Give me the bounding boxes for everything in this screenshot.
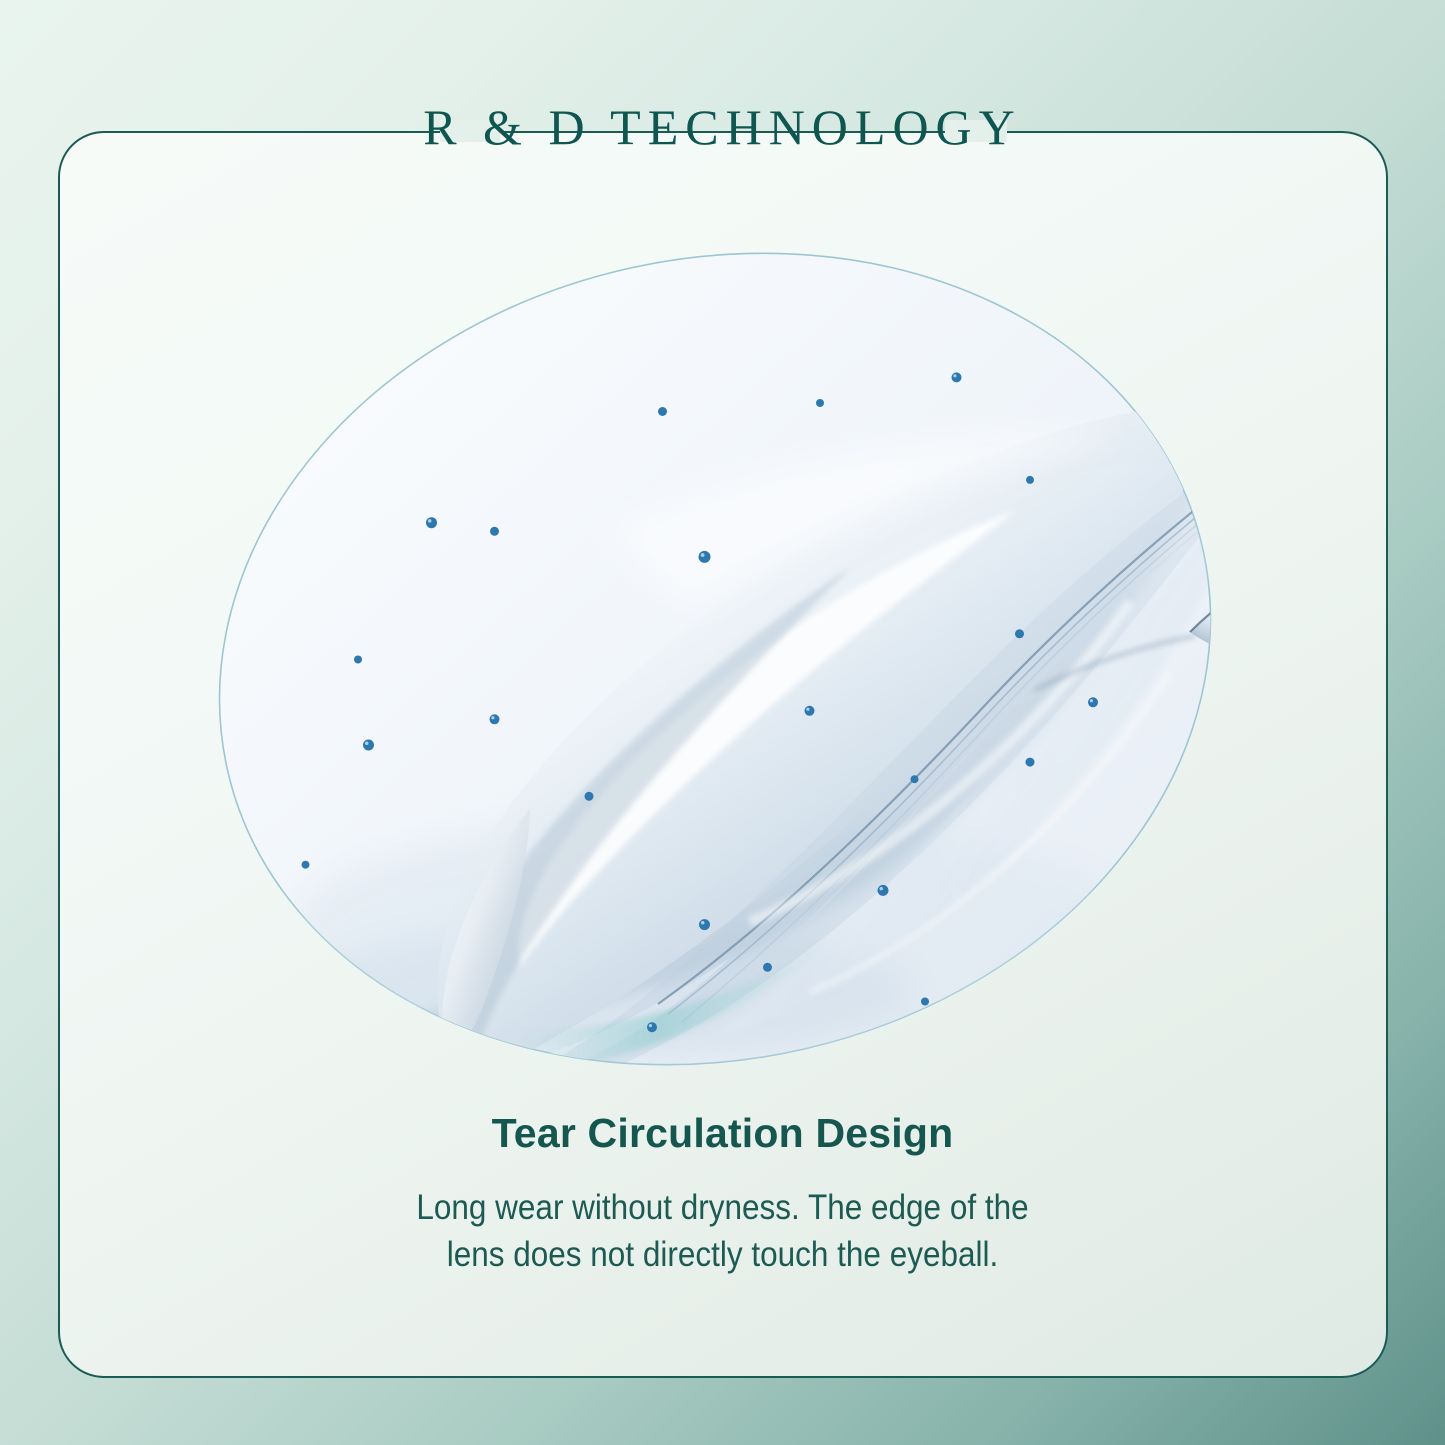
hero-image-stage bbox=[190, 232, 1240, 1087]
tear-dot-highlight bbox=[428, 519, 432, 523]
caption-block: Tear Circulation Design Long wear withou… bbox=[0, 1108, 1445, 1279]
tear-dot bbox=[647, 1022, 657, 1032]
tear-dot-highlight bbox=[649, 1024, 652, 1027]
tear-dot-highlight bbox=[365, 741, 369, 745]
tear-dot-highlight bbox=[491, 716, 494, 719]
tear-dot-highlight bbox=[701, 921, 705, 925]
tear-dot bbox=[490, 714, 500, 724]
tear-dot bbox=[921, 998, 929, 1006]
tear-dot bbox=[952, 372, 962, 382]
tear-dot bbox=[878, 885, 889, 896]
tear-dot-highlight bbox=[806, 708, 809, 711]
tear-dot bbox=[585, 792, 594, 801]
tear-dot bbox=[1026, 476, 1034, 484]
tear-dot bbox=[805, 706, 815, 716]
tear-dot bbox=[354, 656, 362, 664]
tear-dot bbox=[911, 775, 919, 783]
tear-dot bbox=[363, 740, 374, 751]
tear-dot bbox=[658, 407, 667, 416]
contact-lens-illustration bbox=[190, 232, 1240, 1087]
tear-dot bbox=[1015, 629, 1024, 638]
tear-dot bbox=[763, 963, 772, 972]
tear-dot-highlight bbox=[1090, 699, 1093, 702]
product-feature-page: { "page": { "title": "R & D TECHNOLOGY",… bbox=[0, 0, 1445, 1445]
caption-heading: Tear Circulation Design bbox=[0, 1108, 1445, 1159]
tear-dot bbox=[699, 919, 710, 930]
page-title: R & D TECHNOLOGY bbox=[0, 98, 1445, 156]
tear-dot bbox=[1026, 758, 1035, 767]
tear-dot bbox=[699, 551, 711, 563]
tear-dot bbox=[1088, 697, 1098, 707]
tear-dot bbox=[302, 861, 310, 869]
caption-body: Long wear without dryness. The edge of t… bbox=[72, 1185, 1373, 1279]
tear-dot bbox=[426, 517, 437, 528]
tear-dot bbox=[816, 399, 824, 407]
tear-dot-highlight bbox=[879, 887, 883, 891]
tear-dot bbox=[490, 527, 499, 536]
tear-dot-highlight bbox=[701, 553, 705, 557]
tear-dot-highlight bbox=[953, 374, 956, 377]
